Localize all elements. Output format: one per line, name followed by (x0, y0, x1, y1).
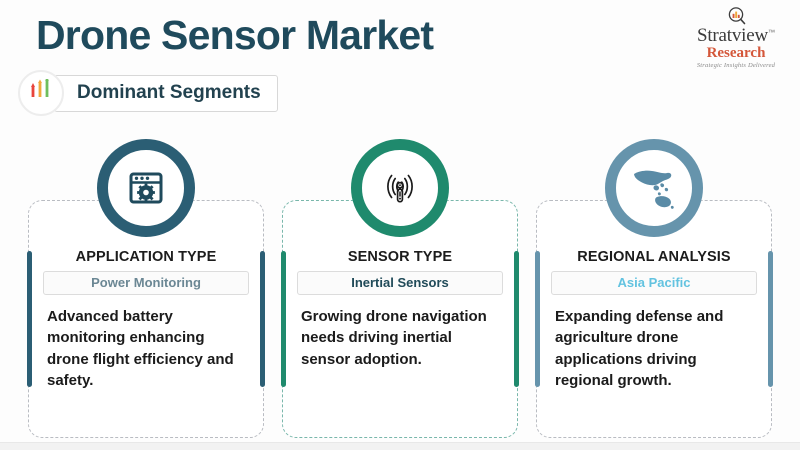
card-body: REGIONAL ANALYSIS Asia Pacific Expanding… (537, 249, 771, 391)
card-heading: SENSOR TYPE (297, 249, 503, 265)
browser-window-gear-icon (97, 139, 195, 237)
dominant-segments-label: Dominant Segments (54, 75, 278, 112)
card-description: Growing drone navigation needs driving i… (297, 306, 503, 370)
card-regional-analysis: REGIONAL ANALYSIS Asia Pacific Expanding… (536, 200, 772, 438)
card-application-type: APPLICATION TYPE Power Monitoring Advanc… (28, 200, 264, 438)
icon-glyph (628, 162, 680, 214)
card-sensor-type: SENSOR TYPE Inertial Sensors Growing dro… (282, 200, 518, 438)
logo-research-text: Research (684, 46, 788, 61)
ascending-arrows-icon (18, 70, 64, 116)
card-heading: APPLICATION TYPE (43, 249, 249, 265)
icon-glyph (374, 162, 426, 214)
antenna-signal-icon (351, 139, 449, 237)
logo-tagline: Strategic Insights Delivered (684, 63, 788, 70)
card-description: Advanced battery monitoring enhancing dr… (43, 306, 249, 391)
subtitle-group: Dominant Segments (18, 70, 278, 116)
asia-pacific-map-icon (605, 139, 703, 237)
page-title: Drone Sensor Market (36, 12, 433, 59)
card-heading: REGIONAL ANALYSIS (551, 249, 757, 265)
card-badge: Power Monitoring (43, 271, 249, 295)
footer-strip (0, 442, 800, 450)
card-body: APPLICATION TYPE Power Monitoring Advanc… (29, 249, 263, 391)
infographic-canvas: Drone Sensor Market Dominant Segments (0, 0, 800, 450)
logo-primary-name: Stratview™ (684, 26, 788, 45)
logo-trademark: ™ (768, 30, 775, 37)
logo-stratview-text: Stratview (697, 26, 768, 45)
card-body: SENSOR TYPE Inertial Sensors Growing dro… (283, 249, 517, 370)
segment-cards: APPLICATION TYPE Power Monitoring Advanc… (28, 200, 772, 438)
stratview-research-logo: Stratview™ Research Strategic Insights D… (684, 6, 788, 70)
card-description: Expanding defense and agriculture drone … (551, 306, 757, 391)
magnifier-bar-chart-icon (684, 6, 788, 26)
card-badge: Asia Pacific (551, 271, 757, 295)
card-badge: Inertial Sensors (297, 271, 503, 295)
icon-glyph (120, 162, 172, 214)
